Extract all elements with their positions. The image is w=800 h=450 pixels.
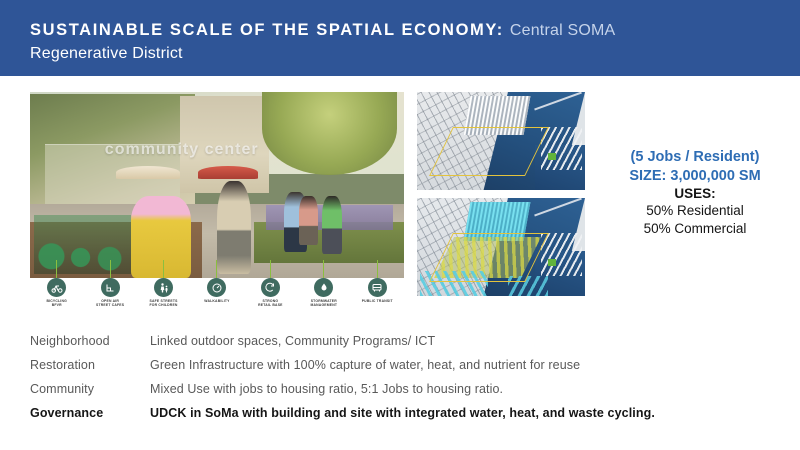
detail-value: Linked outdoor spaces, Community Program…	[150, 334, 760, 348]
map-park	[548, 153, 556, 160]
detail-value: Green Infrastructure with 100% capture o…	[150, 358, 760, 372]
photo-pedestrian-2	[322, 196, 343, 254]
photo-building-signage: community center	[105, 142, 259, 159]
amenity-item-stormwater-management: STORMWATER MANAGEMENT	[297, 278, 350, 312]
photo-pedestrian-3	[299, 196, 318, 244]
table-row: Governance UDCK in SoMa with building an…	[30, 406, 760, 430]
bicycle-icon	[47, 278, 66, 297]
amenity-icon-row: BICYCLING BFVR OPEN AIR STREET CAFES SAF…	[30, 278, 404, 312]
walkability-icon	[207, 278, 226, 297]
page-title: SUSTAINABLE SCALE OF THE SPATIAL ECONOMY…	[30, 21, 615, 40]
amenity-item-bicycling: BICYCLING BFVR	[30, 278, 83, 312]
retail-icon	[261, 278, 280, 297]
aerial-development-map	[417, 198, 585, 296]
aerial-context-map	[417, 92, 585, 190]
header-bar: SUSTAINABLE SCALE OF THE SPATIAL ECONOMY…	[0, 0, 800, 76]
page-subtitle: Regenerative District	[30, 45, 183, 63]
amenity-item-walkability: WALKABILITY	[190, 278, 243, 312]
amenity-label: PUBLIC TRANSIT	[362, 299, 393, 303]
amenity-label: OPEN AIR STREET CAFES	[96, 299, 124, 308]
page-title-main: SUSTAINABLE SCALE OF THE SPATIAL ECONOMY…	[30, 21, 504, 39]
table-row: Neighborhood Linked outdoor spaces, Comm…	[30, 334, 760, 358]
transit-icon	[368, 278, 387, 297]
amenity-label: WALKABILITY	[204, 299, 229, 303]
stormwater-icon	[314, 278, 333, 297]
family-icon	[154, 278, 173, 297]
stat-size: SIZE: 3,000,000 SM	[600, 167, 790, 186]
cafe-icon	[101, 278, 120, 297]
stat-use-commercial: 50% Commercial	[600, 220, 790, 237]
callout-stem	[270, 260, 271, 278]
table-row: Community Mixed Use with jobs to housing…	[30, 382, 760, 406]
amenity-label: STRONG RETAIL BASE	[258, 299, 283, 308]
detail-table: Neighborhood Linked outdoor spaces, Comm…	[30, 334, 760, 430]
callout-stem	[56, 260, 57, 278]
photo-cafe-umbrella-2	[198, 166, 258, 179]
map-park	[548, 259, 556, 266]
district-stats: (5 Jobs / Resident) SIZE: 3,000,000 SM U…	[600, 148, 790, 237]
callout-stem	[163, 260, 164, 278]
amenity-item-safe-streets-for-children: SAFE STREETS FOR CHILDREN	[137, 278, 190, 312]
stat-uses-heading: USES:	[600, 185, 790, 202]
detail-label: Neighborhood	[30, 334, 150, 348]
street-scene-rendering: community center	[30, 92, 404, 278]
detail-label: Restoration	[30, 358, 150, 372]
detail-label: Governance	[30, 406, 150, 420]
amenity-label: SAFE STREETS FOR CHILDREN	[150, 299, 178, 308]
amenity-item-public-transit: PUBLIC TRANSIT	[351, 278, 404, 312]
detail-label: Community	[30, 382, 150, 396]
table-row: Restoration Green Infrastructure with 10…	[30, 358, 760, 382]
photo-bike-share-rack	[34, 215, 131, 275]
callout-stem	[110, 260, 111, 278]
amenity-label: BICYCLING BFVR	[46, 299, 66, 308]
callout-stem	[323, 260, 324, 278]
detail-value: UDCK in SoMa with building and site with…	[150, 406, 760, 420]
detail-value: Mixed Use with jobs to housing ratio, 5:…	[150, 382, 760, 396]
page-title-sub: Central SOMA	[510, 22, 616, 39]
map-piers	[541, 233, 581, 276]
amenity-label: STORMWATER MANAGEMENT	[310, 299, 337, 308]
stat-jobs-per-resident: (5 Jobs / Resident)	[600, 148, 790, 167]
stat-use-residential: 50% Residential	[600, 202, 790, 219]
photo-pedestrian-with-umbrella	[217, 181, 251, 274]
amenity-item-open-air-street-cafes: OPEN AIR STREET CAFES	[83, 278, 136, 312]
photo-cafe-umbrella-1	[116, 166, 180, 179]
callout-stem	[216, 260, 217, 278]
amenity-item-strong-retail-base: STRONG RETAIL BASE	[244, 278, 297, 312]
callout-stem	[377, 260, 378, 278]
photo-child-cyclist	[131, 196, 191, 278]
map-piers	[541, 127, 581, 170]
